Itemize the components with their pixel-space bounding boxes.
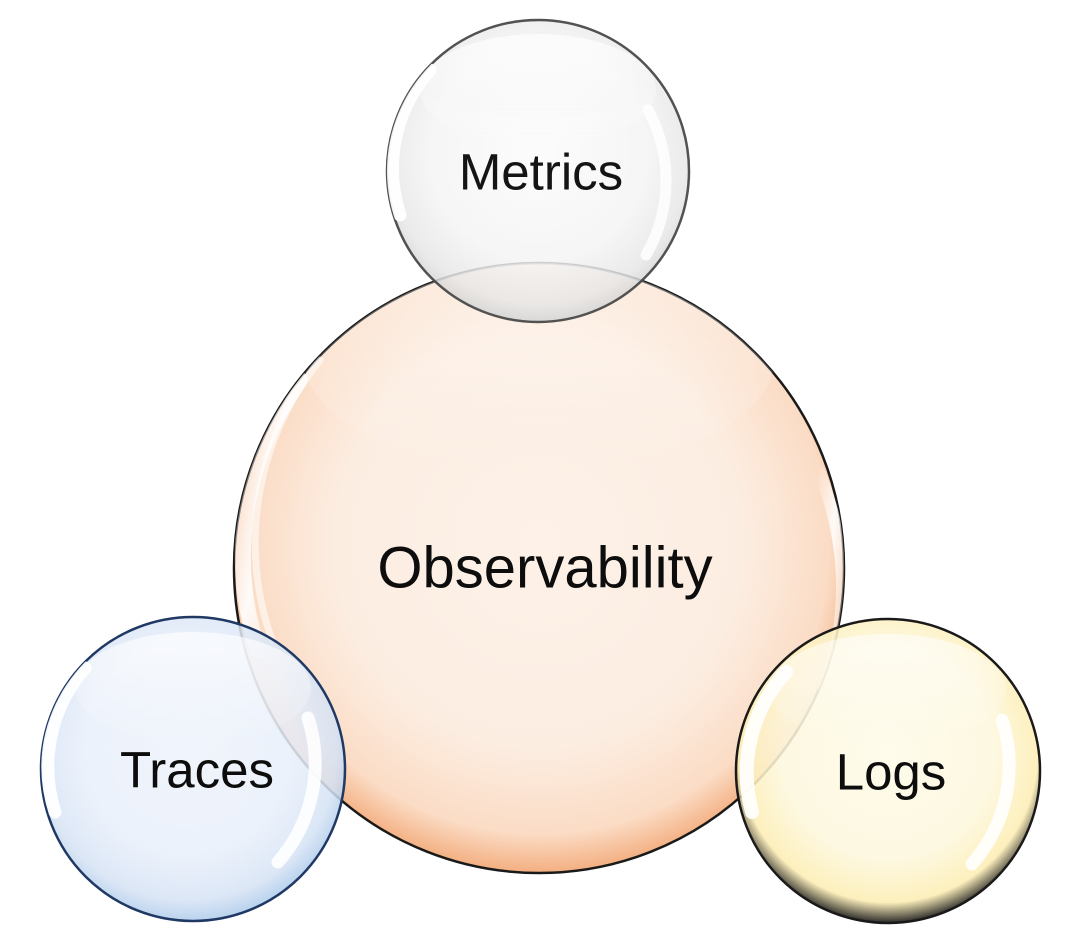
diagram-canvas: Observability Metrics Traces [0,0,1082,942]
observability-label: Observability [377,535,712,600]
node-metrics[interactable]: Metrics [387,20,689,322]
metrics-label: Metrics [459,143,623,200]
traces-label: Traces [120,741,274,798]
diagram-svg: Observability Metrics Traces [0,0,1082,942]
node-traces[interactable]: Traces [41,617,345,921]
node-logs[interactable]: Logs [736,619,1040,923]
logs-label: Logs [836,743,947,800]
